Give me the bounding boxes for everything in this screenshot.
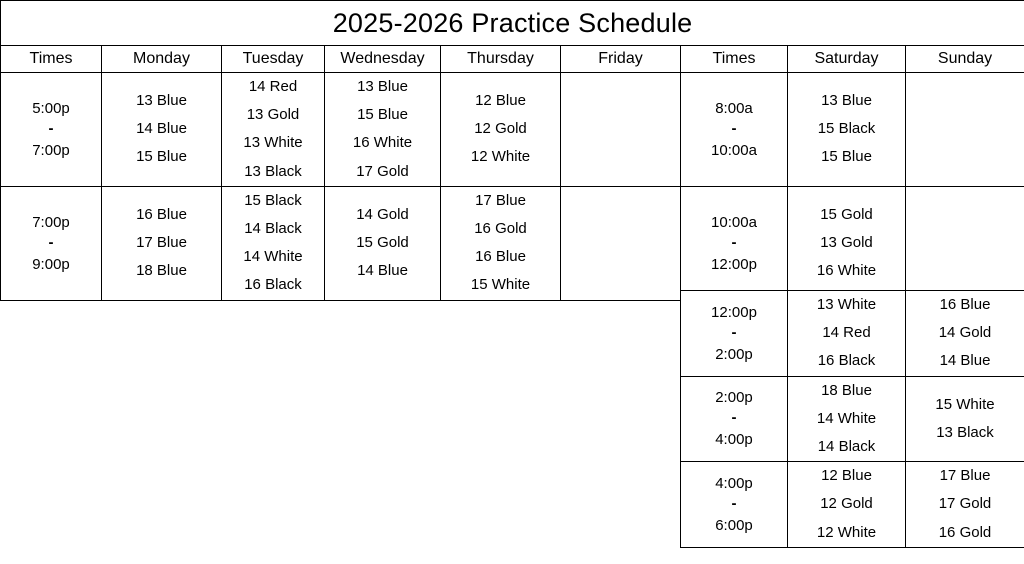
cell-saturday: 13 Blue 15 Black 15 Blue (788, 73, 906, 187)
cell-sunday: 15 White 13 Black (906, 376, 1024, 462)
practice-entry: 13 Blue (102, 87, 221, 115)
weekend-schedule-table: 12:00p - 2:00p 13 White 14 Red 16 Black … (680, 290, 1024, 548)
column-header-saturday: Saturday (788, 46, 906, 73)
practice-entry: 16 White (788, 257, 905, 285)
practice-entry: 15 Black (222, 187, 324, 215)
column-header-row: Times Monday Tuesday Wednesday Thursday … (1, 46, 1024, 73)
practice-entry: 15 Gold (788, 201, 905, 229)
cell-sunday (906, 73, 1024, 187)
cell-thursday: 12 Blue 12 Gold 12 White (441, 73, 561, 187)
cell-monday: 16 Blue 17 Blue 18 Blue (102, 186, 222, 300)
time-end: 7:00p (1, 139, 101, 162)
schedule-row: 4:00p - 6:00p 12 Blue 12 Gold 12 White 1… (681, 462, 1024, 548)
practice-entry: 15 Blue (788, 143, 905, 171)
practice-entry: 14 Blue (325, 257, 440, 285)
time-slot-weekend: 12:00p - 2:00p (681, 291, 788, 377)
practice-entry: 13 Gold (222, 101, 324, 129)
practice-entry: 17 Gold (906, 490, 1024, 518)
practice-entry: 16 Black (222, 271, 324, 299)
practice-entry: 16 Black (788, 347, 905, 375)
time-end: 4:00p (681, 428, 787, 451)
practice-entry: 14 Red (222, 73, 324, 101)
time-dash: - (681, 120, 787, 139)
cell-tuesday: 15 Black 14 Black 14 White 16 Black (222, 186, 325, 300)
practice-entry: 15 Blue (102, 143, 221, 171)
practice-entry: 13 White (222, 129, 324, 157)
time-dash: - (1, 120, 101, 139)
practice-entry: 17 Blue (906, 462, 1024, 490)
schedule-row: 2:00p - 4:00p 18 Blue 14 White 14 Black … (681, 376, 1024, 462)
time-dash: - (1, 234, 101, 253)
time-slot-weekend: 10:00a - 12:00p (681, 186, 788, 300)
cell-wednesday: 14 Gold 15 Gold 14 Blue (325, 186, 441, 300)
practice-entry: 12 Blue (441, 87, 560, 115)
practice-entry: 14 Gold (906, 319, 1024, 347)
practice-entry: 15 Gold (325, 229, 440, 257)
practice-entry: 15 Blue (325, 101, 440, 129)
practice-entry: 15 White (906, 391, 1024, 419)
cell-thursday: 17 Blue 16 Gold 16 Blue 15 White (441, 186, 561, 300)
column-header-times-weekday: Times (1, 46, 102, 73)
time-dash: - (681, 324, 787, 343)
column-header-monday: Monday (102, 46, 222, 73)
column-header-tuesday: Tuesday (222, 46, 325, 73)
practice-entry: 12 Gold (441, 115, 560, 143)
practice-entry: 15 White (441, 271, 560, 299)
cell-monday: 13 Blue 14 Blue 15 Blue (102, 73, 222, 187)
practice-entry: 13 White (788, 291, 905, 319)
schedule-sheet: 2025-2026 Practice Schedule Times Monday… (0, 0, 1024, 564)
time-start: 2:00p (681, 386, 787, 409)
practice-entry: 16 Blue (441, 243, 560, 271)
practice-entry: 12 Blue (788, 462, 905, 490)
time-end: 6:00p (681, 514, 787, 537)
practice-entry: 13 Black (906, 419, 1024, 447)
practice-entry: 16 White (325, 129, 440, 157)
practice-entry: 16 Gold (441, 215, 560, 243)
time-start: 7:00p (1, 211, 101, 234)
practice-entry: 12 Gold (788, 490, 905, 518)
cell-sunday (906, 186, 1024, 300)
time-end: 10:00a (681, 139, 787, 162)
title-row: 2025-2026 Practice Schedule (1, 1, 1024, 46)
practice-entry: 14 Blue (102, 115, 221, 143)
practice-entry: 14 Blue (906, 347, 1024, 375)
time-slot-weekend: 2:00p - 4:00p (681, 376, 788, 462)
practice-entry: 15 Black (788, 115, 905, 143)
practice-entry: 14 Gold (325, 201, 440, 229)
practice-entry: 17 Gold (325, 158, 440, 186)
cell-saturday: 12 Blue 12 Gold 12 White (788, 462, 906, 548)
practice-entry: 12 White (441, 143, 560, 171)
time-start: 12:00p (681, 301, 787, 324)
time-dash: - (681, 409, 787, 428)
cell-sunday: 17 Blue 17 Gold 16 Gold (906, 462, 1024, 548)
column-header-friday: Friday (561, 46, 681, 73)
time-start: 4:00p (681, 472, 787, 495)
practice-entry: 14 White (788, 405, 905, 433)
time-dash: - (681, 234, 787, 253)
column-header-times-weekend: Times (681, 46, 788, 73)
practice-entry: 16 Gold (906, 519, 1024, 547)
practice-entry: 13 Black (222, 158, 324, 186)
practice-entry: 17 Blue (102, 229, 221, 257)
practice-entry: 16 Blue (906, 291, 1024, 319)
cell-sunday: 16 Blue 14 Gold 14 Blue (906, 291, 1024, 377)
practice-entry: 13 Gold (788, 229, 905, 257)
practice-entry: 13 Blue (325, 73, 440, 101)
page-title: 2025-2026 Practice Schedule (1, 1, 1024, 46)
practice-schedule-table: 2025-2026 Practice Schedule Times Monday… (0, 0, 1024, 301)
time-dash: - (681, 495, 787, 514)
cell-saturday: 13 White 14 Red 16 Black (788, 291, 906, 377)
practice-entry: 18 Blue (788, 377, 905, 405)
practice-entry: 17 Blue (441, 187, 560, 215)
cell-saturday: 18 Blue 14 White 14 Black (788, 376, 906, 462)
time-slot-weekday: 5:00p - 7:00p (1, 73, 102, 187)
time-slot-weekend: 8:00a - 10:00a (681, 73, 788, 187)
practice-entry: 14 Black (788, 433, 905, 461)
schedule-row: 7:00p - 9:00p 16 Blue 17 Blue 18 Blue 15… (1, 186, 1024, 300)
time-start: 8:00a (681, 97, 787, 120)
practice-entry: 18 Blue (102, 257, 221, 285)
time-slot-weekday: 7:00p - 9:00p (1, 186, 102, 300)
column-header-sunday: Sunday (906, 46, 1024, 73)
time-end: 9:00p (1, 253, 101, 276)
cell-friday (561, 73, 681, 187)
cell-saturday: 15 Gold 13 Gold 16 White (788, 186, 906, 300)
column-header-thursday: Thursday (441, 46, 561, 73)
practice-entry: 14 Red (788, 319, 905, 347)
schedule-row: 12:00p - 2:00p 13 White 14 Red 16 Black … (681, 291, 1024, 377)
time-end: 2:00p (681, 343, 787, 366)
practice-entry: 16 Blue (102, 201, 221, 229)
time-slot-weekend: 4:00p - 6:00p (681, 462, 788, 548)
time-start: 5:00p (1, 97, 101, 120)
practice-entry: 12 White (788, 519, 905, 547)
practice-entry: 14 White (222, 243, 324, 271)
cell-tuesday: 14 Red 13 Gold 13 White 13 Black (222, 73, 325, 187)
column-header-wednesday: Wednesday (325, 46, 441, 73)
time-end: 12:00p (681, 253, 787, 276)
cell-wednesday: 13 Blue 15 Blue 16 White 17 Gold (325, 73, 441, 187)
schedule-row: 5:00p - 7:00p 13 Blue 14 Blue 15 Blue 14… (1, 73, 1024, 187)
practice-entry: 13 Blue (788, 87, 905, 115)
time-start: 10:00a (681, 211, 787, 234)
practice-entry: 14 Black (222, 215, 324, 243)
cell-friday (561, 186, 681, 300)
